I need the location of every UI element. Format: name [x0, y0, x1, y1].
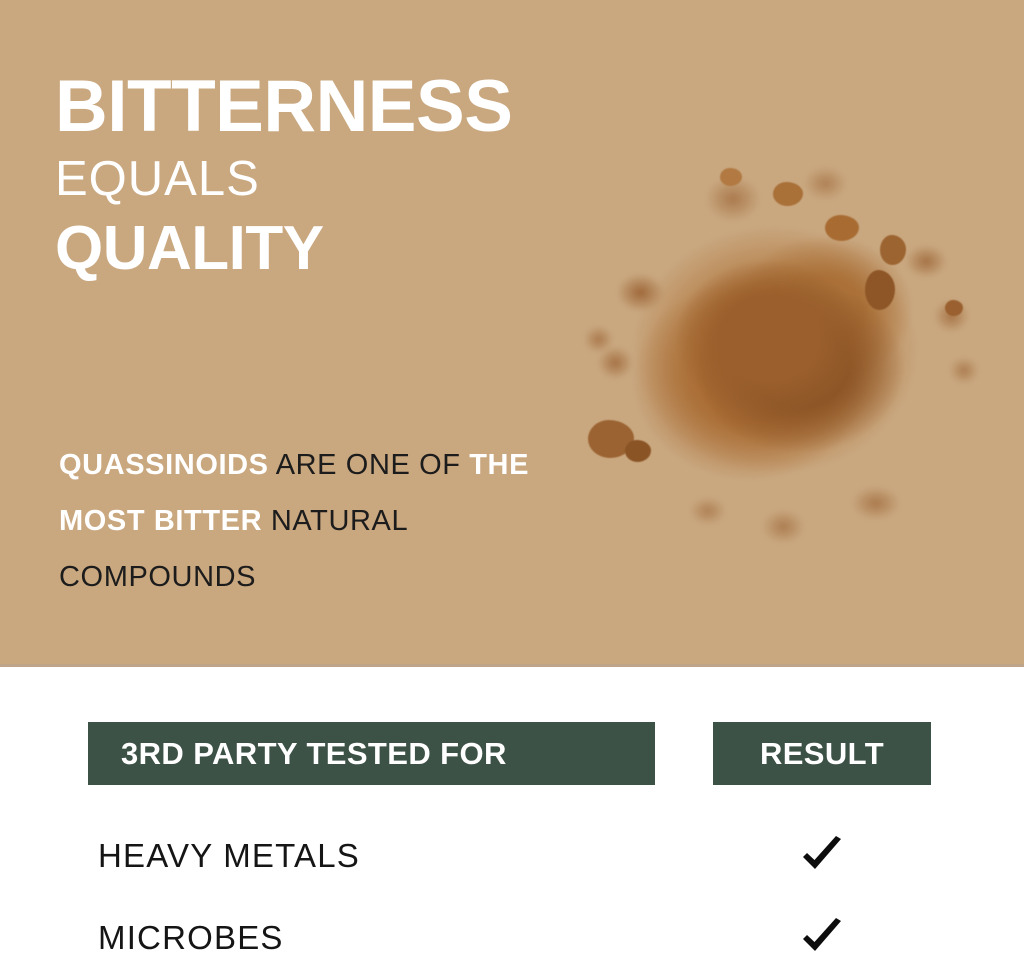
powder-chunk [945, 300, 963, 316]
table-cell-result [713, 835, 931, 877]
product-infographic-page: BITTERNESS EQUALS QUALITY QUASSINOIDS AR… [0, 0, 1024, 964]
table-cell-test-name: MICROBES [98, 919, 284, 957]
powder-chunk [588, 420, 634, 458]
powder-chunk [825, 215, 859, 241]
table-header-tested-for-label: 3RD PARTY TESTED FOR [121, 736, 507, 772]
headline-line-3: QUALITY [55, 212, 615, 286]
powder-scatter [565, 160, 985, 550]
table-cell-result [713, 917, 931, 959]
third-party-testing-table: 3RD PARTY TESTED FOR RESULT HEAVY METALS… [0, 667, 1024, 964]
paragraph-emphasis-quassinoids: QUASSINOIDS [59, 449, 269, 481]
table-row: MICROBES [88, 899, 931, 964]
powder-chunk [625, 440, 651, 462]
powder-chunk [773, 182, 803, 206]
checkmark-icon [799, 917, 845, 959]
powder-chunk [865, 270, 895, 310]
headline-line-2: EQUALS [55, 146, 615, 212]
table-row: HEAVY METALS [88, 817, 931, 895]
hero-paragraph: QUASSINOIDS ARE ONE OF THE MOST BITTER N… [59, 437, 579, 605]
table-header-result: RESULT [713, 722, 931, 785]
powder-chunk [880, 235, 906, 265]
table-cell-test-name: HEAVY METALS [98, 837, 360, 875]
headline-line-1: BITTERNESS [55, 68, 615, 146]
table-header-result-label: RESULT [760, 736, 884, 772]
powder-chunk [720, 168, 742, 186]
paragraph-text-1: ARE ONE OF [269, 449, 470, 481]
powder-mound [620, 205, 930, 495]
table-header-tested-for: 3RD PARTY TESTED FOR [88, 722, 655, 785]
checkmark-icon [799, 835, 845, 877]
hero-headline: BITTERNESS EQUALS QUALITY [55, 68, 615, 286]
hero-section: BITTERNESS EQUALS QUALITY QUASSINOIDS AR… [0, 0, 1024, 667]
